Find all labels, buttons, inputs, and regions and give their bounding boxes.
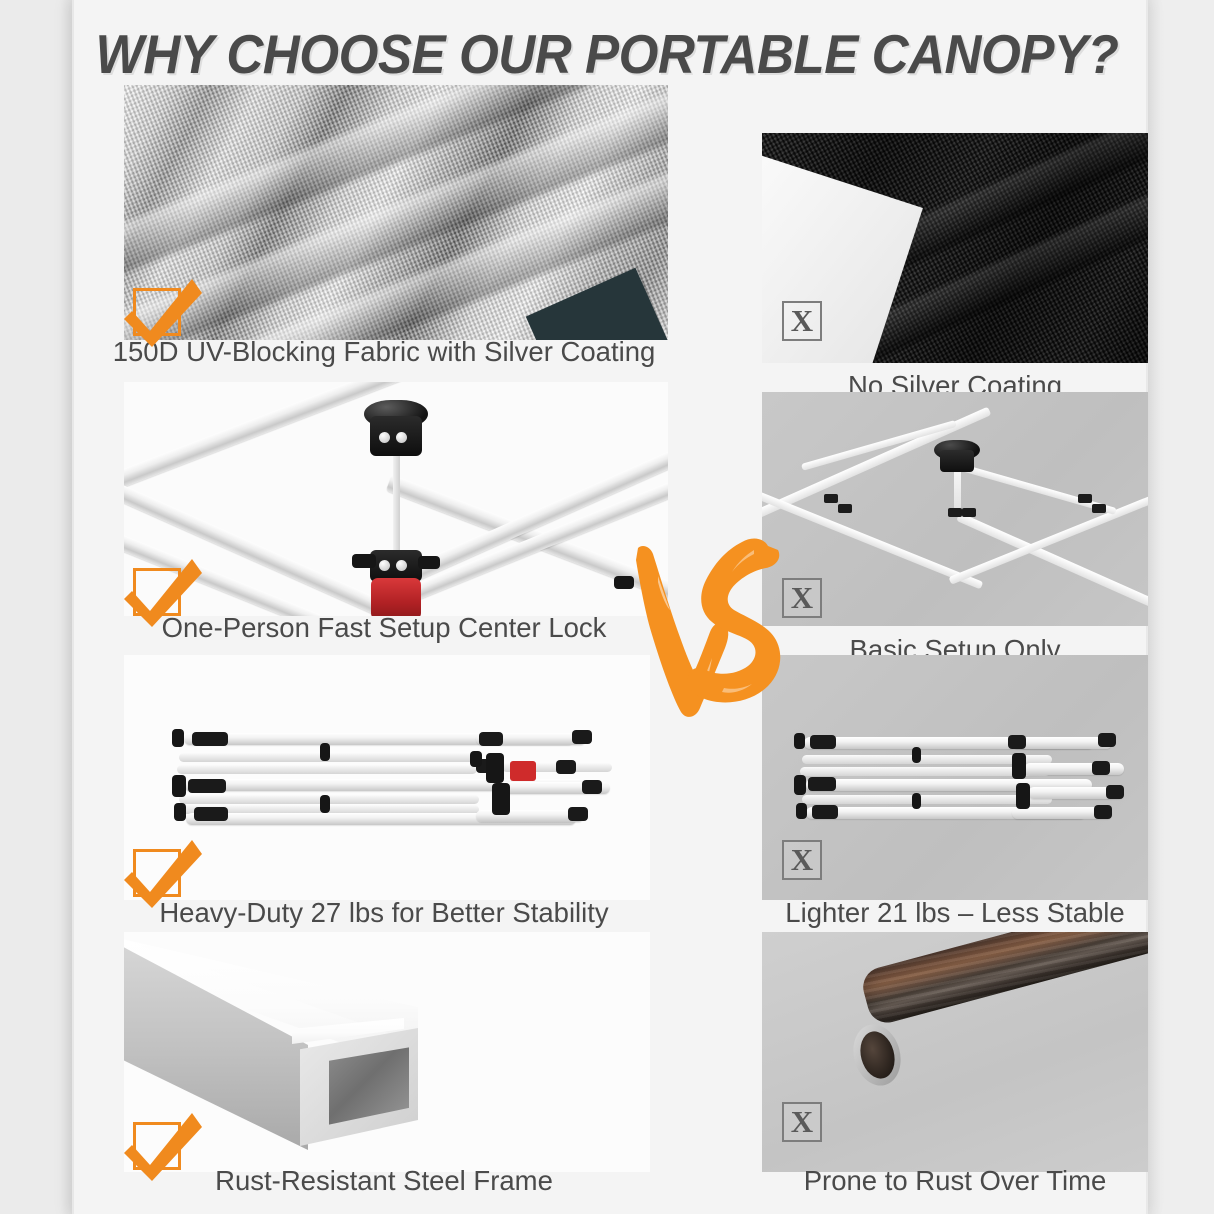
panel-right-edge-shadow — [1146, 0, 1162, 1214]
theirs-x-badge-4: X — [782, 1102, 822, 1142]
theirs-x-badge-2: X — [782, 578, 822, 618]
ours-row-3 — [124, 655, 650, 900]
ours-check-badge-1 — [133, 288, 181, 336]
panel-left-edge-shadow — [60, 0, 74, 1214]
ours-row-1 — [124, 85, 668, 340]
vs-badge — [636, 536, 786, 726]
square-steel-tube-photo — [124, 932, 650, 1172]
canopy-center-lock-frame-photo — [124, 382, 668, 616]
comparison-infographic: WHY CHOOSE OUR PORTABLE CANOPY? 150D UV-… — [0, 0, 1214, 1214]
vs-brush-icon — [636, 536, 786, 726]
check-icon — [124, 1109, 202, 1183]
page-title: WHY CHOOSE OUR PORTABLE CANOPY? — [42, 22, 1171, 86]
theirs-caption-3: Lighter 21 lbs – Less Stable — [760, 897, 1150, 929]
silver-coated-fabric-photo — [124, 85, 668, 340]
check-icon — [124, 836, 202, 910]
theirs-x-badge-3: X — [782, 840, 822, 880]
ours-check-badge-3 — [133, 849, 181, 897]
check-icon — [124, 555, 202, 629]
folded-heavy-frame-photo — [124, 655, 650, 900]
theirs-x-badge-1: X — [782, 301, 822, 341]
ours-row-2 — [124, 382, 668, 616]
ours-row-4 — [124, 932, 650, 1172]
check-icon — [124, 275, 202, 349]
ours-check-badge-4 — [133, 1122, 181, 1170]
theirs-caption-4: Prone to Rust Over Time — [760, 1165, 1150, 1197]
ours-check-badge-2 — [133, 568, 181, 616]
